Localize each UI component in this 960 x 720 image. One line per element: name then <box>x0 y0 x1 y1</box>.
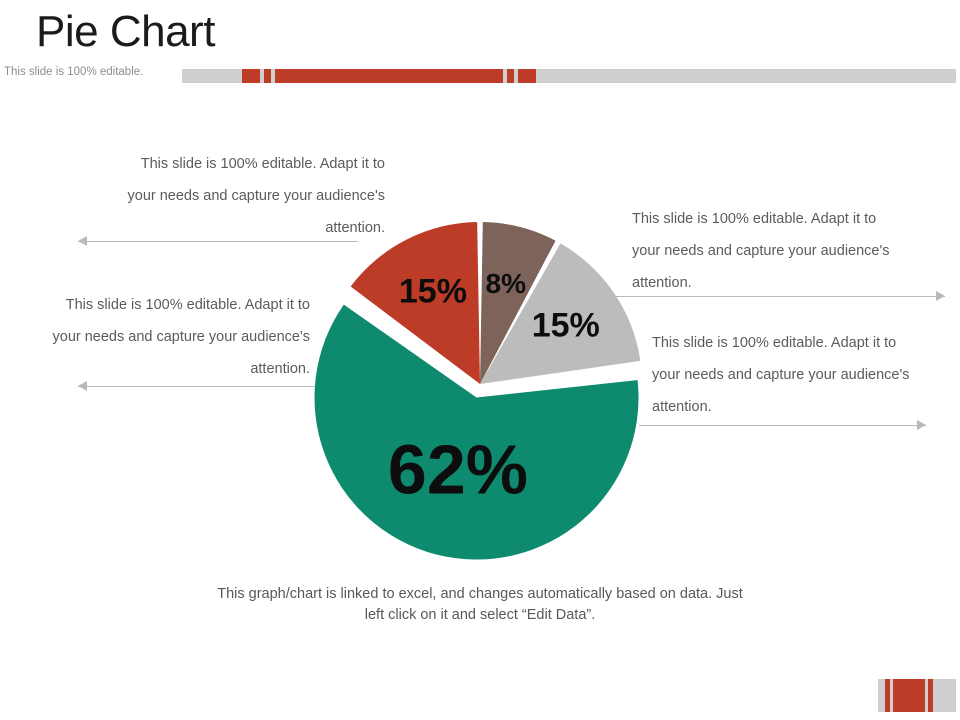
bar-segment <box>893 679 925 712</box>
arrow-head-right-icon <box>917 420 926 430</box>
arrow-head-left-icon <box>78 236 87 246</box>
pie-chart-svg[interactable]: 8%15%62%15% <box>296 206 664 574</box>
pie-slice-label: 8% <box>486 268 527 299</box>
bar-segment <box>928 679 933 712</box>
bar-segment <box>275 69 503 83</box>
arrow-head-left-icon <box>78 381 87 391</box>
callout-line: your needs and capture your audience's <box>632 235 952 267</box>
bottom-decorative-bar <box>878 679 956 712</box>
top-decorative-bar <box>182 69 956 83</box>
page-title: Pie Chart <box>36 8 215 56</box>
pie-slice-label: 15% <box>399 273 467 311</box>
leader-rule <box>639 425 926 426</box>
callout-line: your needs and capture your audience's <box>652 359 960 391</box>
callout-bottom-left: This slide is 100% editable. Adapt it to… <box>0 289 310 385</box>
leader-line-bottom-left <box>78 381 316 392</box>
chart-source-caption: This graph/chart is linked to excel, and… <box>180 584 780 626</box>
pie-slice-label: 62% <box>388 431 528 509</box>
bar-segment <box>518 69 536 83</box>
bar-segment <box>885 679 890 712</box>
caption-line: left click on it and select “Edit Data”. <box>180 605 780 626</box>
callout-line: This slide is 100% editable. Adapt it to <box>0 289 310 321</box>
bar-segment <box>242 69 260 83</box>
callout-top-right: This slide is 100% editable. Adapt it to… <box>632 203 952 299</box>
bar-segment <box>264 69 271 83</box>
callout-line: This slide is 100% editable. Adapt it to <box>652 327 960 359</box>
arrow-head-right-icon <box>936 291 945 301</box>
leader-rule <box>78 386 316 387</box>
callout-bottom-right: This slide is 100% editable. Adapt it to… <box>652 327 960 423</box>
pie-slices-group[interactable] <box>315 222 641 560</box>
leader-line-bottom-right <box>639 420 926 431</box>
pie-slice-label: 15% <box>532 307 600 345</box>
callout-line: attention. <box>652 391 960 423</box>
top-editable-note: This slide is 100% editable. <box>4 66 143 78</box>
callout-line: This slide is 100% editable. Adapt it to <box>632 203 952 235</box>
callout-line: This slide is 100% editable. Adapt it to <box>40 148 385 180</box>
slide-canvas: Pie Chart This slide is 100% editable. T… <box>0 0 960 720</box>
caption-line: This graph/chart is linked to excel, and… <box>180 584 780 605</box>
pie-chart[interactable]: 8%15%62%15% <box>296 206 664 574</box>
bar-segment <box>507 69 514 83</box>
callout-line: your needs and capture your audience's <box>0 321 310 353</box>
